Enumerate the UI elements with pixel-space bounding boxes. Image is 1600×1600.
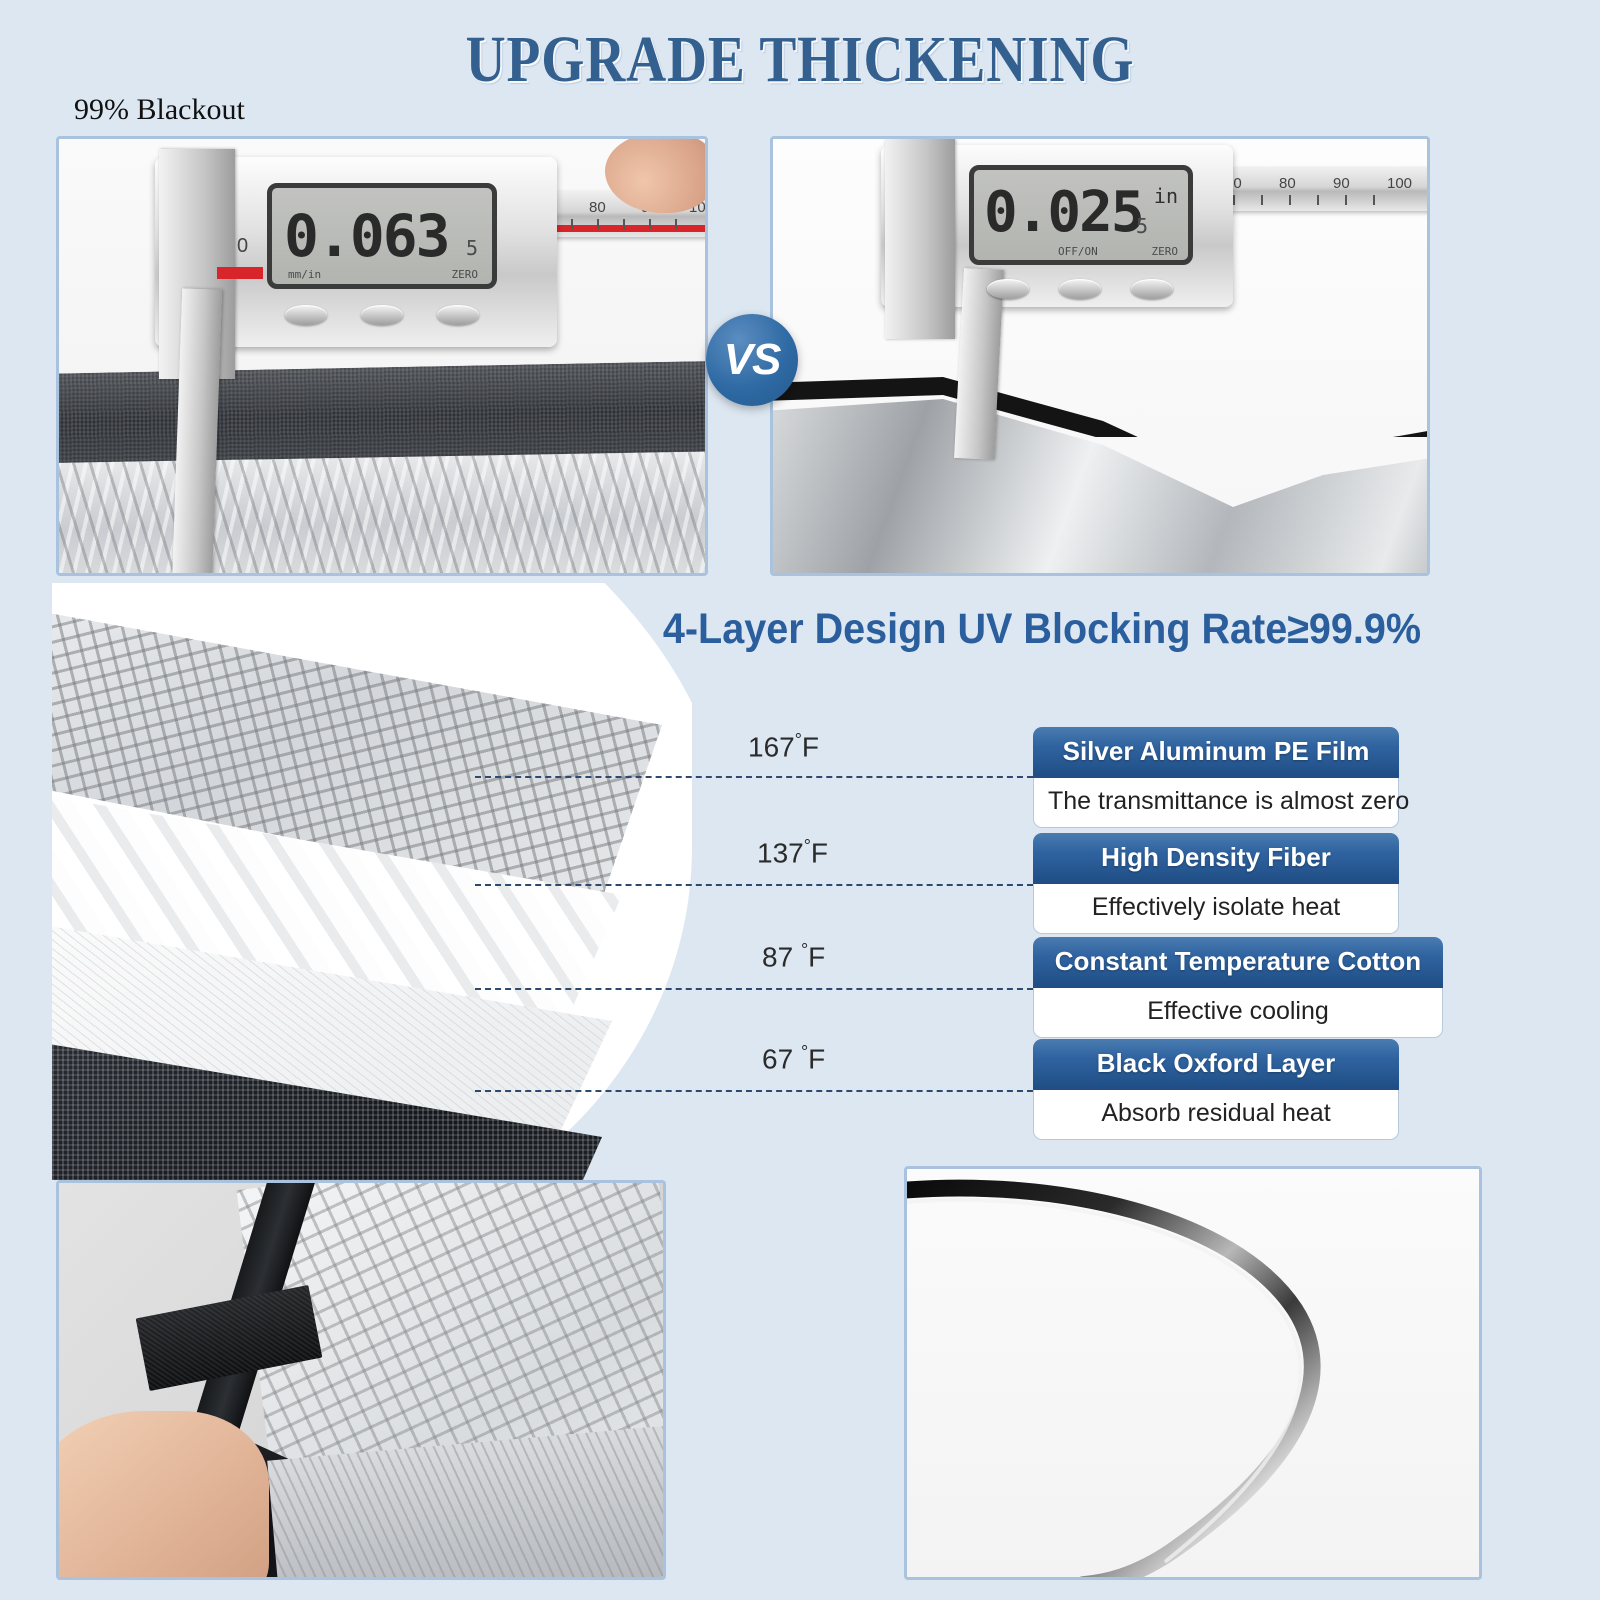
layer-name-4: Black Oxford Layer	[1033, 1039, 1399, 1090]
caliper-tick	[623, 219, 625, 229]
caliper-button-mm-in[interactable]	[987, 279, 1029, 299]
layer-temperature-2: 137°F	[757, 836, 828, 869]
caliper-jaw-upper-right	[885, 139, 955, 339]
layer-name-3: Constant Temperature Cotton	[1033, 937, 1443, 988]
layer-temp-value-4: 67	[762, 1043, 793, 1074]
layer-badge-2: High Density Fiber Effectively isolate h…	[1033, 833, 1399, 934]
caliper-unit-right: in	[1154, 184, 1178, 208]
temp-unit: F	[811, 837, 828, 868]
page-title: UPGRADE THICKENING	[128, 22, 1472, 98]
caliper-button-on-off[interactable]	[1059, 279, 1101, 299]
caliper-button-mm-in[interactable]	[285, 305, 327, 325]
caliper-reading-right: 0.025	[984, 180, 1143, 245]
caliper-tick	[571, 219, 573, 229]
caliper-scale-80: 80	[589, 199, 606, 216]
caliper-tick	[649, 219, 651, 229]
caliper-tick	[1317, 195, 1319, 205]
caliper-tick	[675, 219, 677, 229]
caliper-tick	[1261, 195, 1263, 205]
degree-symbol: °	[804, 836, 811, 856]
caliper-zero-label: 0	[237, 235, 248, 258]
comparison-photo-right: 70 80 90 100 0.025 5 in OFF/ON ZERO	[770, 136, 1430, 576]
leader-line-1	[475, 776, 1033, 778]
caliper-lcd-left: 0.063 5 mm/in ZERO	[267, 183, 497, 289]
comparison-photo-left: 70 80 90 100 0 0.063 5 mm/in ZERO	[56, 136, 708, 576]
layer-description-4: Absorb residual heat	[1033, 1090, 1399, 1140]
caliper-button-label-mm-in: mm/in	[288, 268, 321, 281]
caliper-tick	[1289, 195, 1291, 205]
layers-section-title: 4-Layer Design UV Blocking Rate≥99.9%	[646, 605, 1437, 654]
vs-badge: VS	[706, 314, 798, 406]
layer-temperature-3: 87 °F	[762, 940, 825, 973]
caliper-tick	[597, 219, 599, 229]
caliper-scale-90: 90	[1333, 175, 1350, 192]
leader-line-3	[475, 988, 1033, 990]
caliper-reading-sub-left: 5	[466, 236, 478, 260]
layer-temperature-1: 167°F	[748, 730, 819, 763]
detail-photo-spring-frame	[904, 1166, 1482, 1580]
layer-temp-value-2: 137	[757, 837, 804, 868]
caliper-tick	[1233, 195, 1235, 205]
layer-name-1: Silver Aluminum PE Film	[1033, 727, 1399, 778]
layer-description-2: Effectively isolate heat	[1033, 884, 1399, 934]
caliper-zero-marker	[217, 267, 263, 279]
blackout-label: 99% Blackout	[74, 93, 245, 127]
layer-temp-value-1: 167	[748, 731, 795, 762]
silver-quilted-fabric	[56, 451, 708, 576]
layer-badge-4: Black Oxford Layer Absorb residual heat	[1033, 1039, 1399, 1140]
temp-unit: F	[808, 941, 825, 972]
detail-photo-velcro-strap	[56, 1180, 666, 1580]
hand	[56, 1411, 269, 1580]
caliper-tick	[1373, 195, 1375, 205]
caliper-reading-left: 0.063	[284, 202, 449, 270]
layer-description-3: Effective cooling	[1033, 988, 1443, 1038]
layer-temperature-4: 67 °F	[762, 1042, 825, 1075]
caliper-button-label-off-on: OFF/ON	[1058, 245, 1098, 258]
layer-description-1: The transmittance is almost zero	[1033, 778, 1399, 828]
caliper-tick	[1345, 195, 1347, 205]
spring-wire-illustration	[907, 1169, 1479, 1579]
layer-badge-3: Constant Temperature Cotton Effective co…	[1033, 937, 1443, 1038]
caliper-button-zero[interactable]	[1131, 279, 1173, 299]
caliper-button-label-zero: ZERO	[1152, 245, 1179, 258]
degree-symbol: °	[795, 730, 802, 750]
temp-unit: F	[802, 731, 819, 762]
layer-name-2: High Density Fiber	[1033, 833, 1399, 884]
caliper-scale-80: 80	[1279, 175, 1296, 192]
caliper-scale-100: 100	[1387, 175, 1412, 192]
layer-badge-1: Silver Aluminum PE Film The transmittanc…	[1033, 727, 1399, 828]
caliper-button-label-zero: ZERO	[452, 268, 479, 281]
caliper-reading-sub-right: 5	[1136, 214, 1148, 238]
caliper-button-on-off[interactable]	[361, 305, 403, 325]
temp-unit: F	[808, 1043, 825, 1074]
layer-temp-value-3: 87	[762, 941, 793, 972]
caliper-lcd-right: 0.025 5 in OFF/ON ZERO	[969, 165, 1193, 265]
leader-line-2	[475, 884, 1033, 886]
leader-line-4	[475, 1090, 1033, 1092]
caliper-button-zero[interactable]	[437, 305, 479, 325]
